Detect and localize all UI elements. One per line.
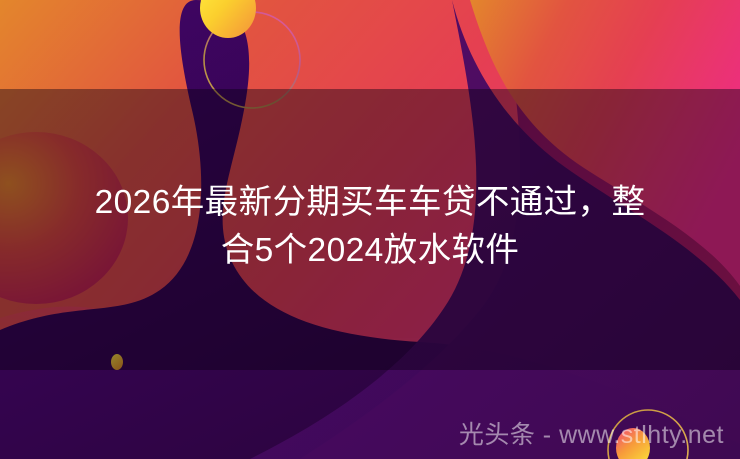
title-container: 2026年最新分期买车车贷不通过，整合5个2024放水软件 <box>0 0 740 459</box>
poster-title-line-2: 合5个2024放水软件 <box>221 232 520 269</box>
poster-title: 2026年最新分期买车车贷不通过，整合5个2024放水软件 <box>38 179 702 274</box>
site-watermark: 光头条 - www.stlhty.net <box>459 423 724 448</box>
poster-canvas: 2026年最新分期买车车贷不通过，整合5个2024放水软件 光头条 - www.… <box>0 0 740 459</box>
poster-title-line-1: 2026年最新分期买车车贷不通过，整 <box>95 184 646 221</box>
